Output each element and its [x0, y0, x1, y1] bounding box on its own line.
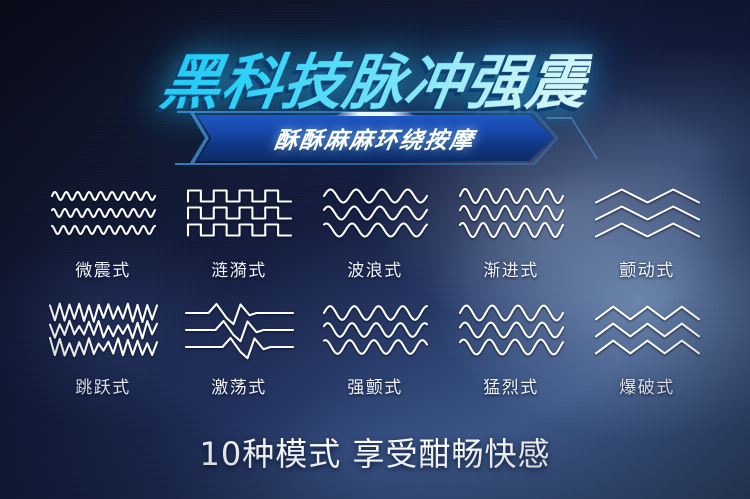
mode-item[interactable]: 猛烈式 — [443, 299, 579, 398]
mode-label: 微震式 — [75, 256, 131, 281]
mode-item[interactable]: 波浪式 — [307, 182, 443, 281]
title-area: 黑科技脉冲强震 — [0, 34, 750, 121]
mode-item[interactable]: 强颤式 — [307, 299, 443, 398]
mode-item[interactable]: 涟漪式 — [171, 182, 307, 281]
wave-icon — [318, 182, 433, 244]
mode-label: 爆破式 — [619, 373, 675, 398]
burst-zigzag-icon — [590, 299, 705, 361]
progressive-wave-icon — [454, 182, 569, 244]
banner-notch-decoration — [334, 112, 416, 116]
promo-banner-stage: 黑科技脉冲强震 酥酥麻麻环绕按摩 微震式涟漪式波浪式渐进式颤动式跳跃式激荡式强颤… — [0, 0, 750, 499]
subtitle-banner: 酥酥麻麻环绕按摩 — [181, 115, 569, 161]
mode-label: 激荡式 — [211, 373, 267, 398]
mode-item[interactable]: 渐进式 — [443, 182, 579, 281]
mode-label: 波浪式 — [347, 256, 403, 281]
modes-grid: 微震式涟漪式波浪式渐进式颤动式跳跃式激荡式强颤式猛烈式爆破式 — [35, 182, 715, 398]
mode-label: 渐进式 — [483, 256, 539, 281]
subtitle-banner-area: 酥酥麻麻环绕按摩 — [0, 115, 750, 161]
mode-label: 猛烈式 — [483, 373, 539, 398]
footer-area: 10种模式 享受酣畅快感 — [0, 429, 750, 475]
mode-item[interactable]: 颤动式 — [579, 182, 715, 281]
micro-ripple-wave-icon — [46, 182, 161, 244]
strong-tremor-wave-icon — [318, 299, 433, 361]
tremor-zigzag-icon — [590, 182, 705, 244]
chevron-right-icon — [546, 117, 598, 159]
banner-label: 酥酥麻麻环绕按摩 — [273, 121, 478, 155]
pulse-spike-icon — [182, 299, 297, 361]
jump-jagged-icon — [46, 299, 161, 361]
page-title: 黑科技脉冲强震 — [155, 34, 596, 121]
mode-item[interactable]: 爆破式 — [579, 299, 715, 398]
mode-label: 颤动式 — [619, 256, 675, 281]
mode-label: 涟漪式 — [211, 256, 267, 281]
mode-item[interactable]: 跳跃式 — [35, 299, 171, 398]
mode-label: 跳跃式 — [75, 373, 131, 398]
fierce-wave-icon — [454, 299, 569, 361]
mode-item[interactable]: 微震式 — [35, 182, 171, 281]
mode-item[interactable]: 激荡式 — [171, 299, 307, 398]
mode-label: 强颤式 — [347, 373, 403, 398]
square-wave-icon — [182, 182, 297, 244]
footer-caption: 10种模式 享受酣畅快感 — [0, 429, 750, 475]
